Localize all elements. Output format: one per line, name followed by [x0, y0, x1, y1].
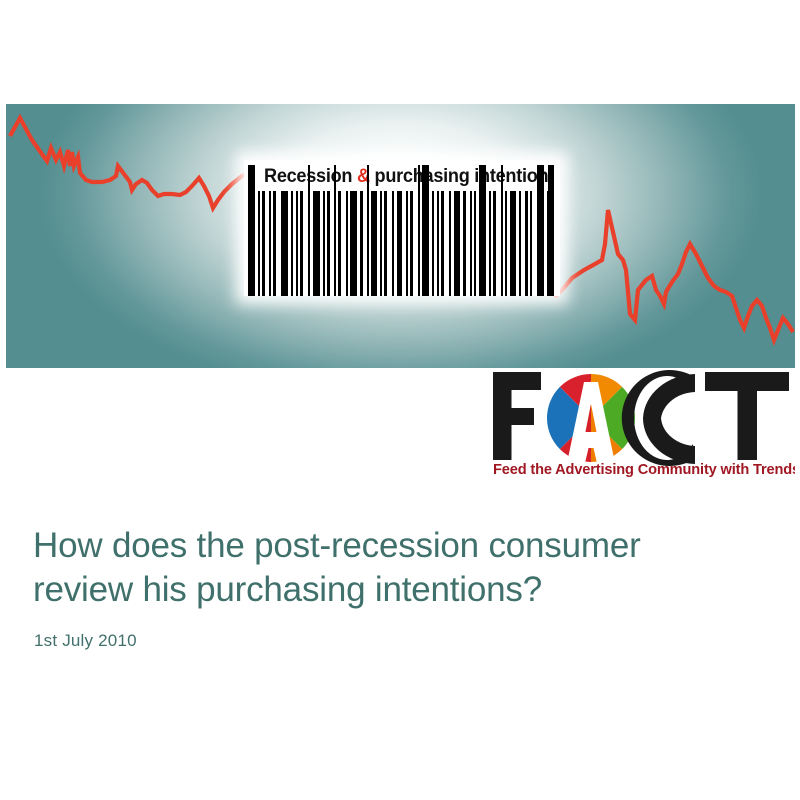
- barcode-bar: [327, 191, 330, 296]
- page-title-line-2: review his purchasing intentions?: [33, 568, 763, 612]
- barcode-bar: [463, 191, 466, 296]
- barcode-bars: [248, 165, 556, 296]
- barcode-bar: [422, 165, 429, 296]
- barcode-bar: [454, 191, 460, 296]
- barcode-bar: [296, 191, 298, 296]
- barcode-bar: [441, 191, 444, 296]
- barcode-bar: [291, 191, 293, 296]
- barcode-bar: [397, 191, 402, 296]
- barcode-bar: [418, 165, 420, 296]
- logo-letter-c: [622, 370, 695, 466]
- fact-logo-svg: Feed the Advertising Community with Tren…: [489, 370, 795, 478]
- barcode-bar: [410, 191, 413, 296]
- barcode-bar: [384, 191, 387, 296]
- barcode-guard-bar: [248, 165, 254, 296]
- barcode-bar: [530, 191, 532, 296]
- barcode-bar: [474, 191, 476, 296]
- barcode-bar: [493, 191, 496, 296]
- barcode-bar: [323, 191, 325, 296]
- chart-line-left: [10, 118, 251, 208]
- barcode-bar: [313, 191, 320, 296]
- logo-letter-t: [705, 372, 789, 460]
- barcode-bar: [537, 165, 544, 296]
- slide-date: 1st July 2010: [34, 629, 137, 653]
- barcode-bar: [338, 191, 341, 296]
- barcode-bar: [510, 191, 516, 296]
- barcode-bar: [367, 165, 369, 296]
- page-title: How does the post-recession consumer rev…: [33, 524, 763, 612]
- barcode-bar: [406, 191, 408, 296]
- barcode-bar: [360, 191, 363, 296]
- barcode-bar: [380, 191, 382, 296]
- barcode-bar: [258, 191, 260, 296]
- barcode-bar: [269, 191, 271, 296]
- chart-line-right: [555, 210, 793, 340]
- barcode-bar: [350, 191, 357, 296]
- barcode-bar: [262, 191, 265, 296]
- barcode-bar: [479, 165, 486, 296]
- barcode-bar: [432, 191, 434, 296]
- barcode-bar: [470, 191, 472, 296]
- barcode-bar: [449, 191, 451, 296]
- barcode-bar: [273, 191, 276, 296]
- barcode-bar: [501, 165, 503, 296]
- barcode-bar: [308, 165, 310, 296]
- barcode-bar: [489, 191, 491, 296]
- barcode-bar: [505, 191, 507, 296]
- barcode-bar: [300, 191, 303, 296]
- logo-letter-f: [493, 372, 541, 460]
- barcode-bar: [392, 191, 394, 296]
- barcode-bar: [437, 191, 439, 296]
- barcode-bar: [281, 191, 288, 296]
- barcode-bar: [371, 191, 377, 296]
- page-title-line-1: How does the post-recession consumer: [33, 524, 763, 568]
- barcode-guard-bar: [548, 165, 554, 296]
- barcode-graphic: Recession & purchasing intention: [244, 160, 560, 296]
- barcode-bar: [334, 165, 336, 296]
- barcode-bar: [519, 191, 521, 296]
- logo-tagline: Feed the Advertising Community with Tren…: [493, 462, 795, 478]
- barcode-bar: [346, 191, 348, 296]
- fact-logo: Feed the Advertising Community with Tren…: [489, 370, 795, 478]
- title-banner-image: Recession & purchasing intention: [6, 104, 795, 368]
- barcode-bar: [525, 191, 528, 296]
